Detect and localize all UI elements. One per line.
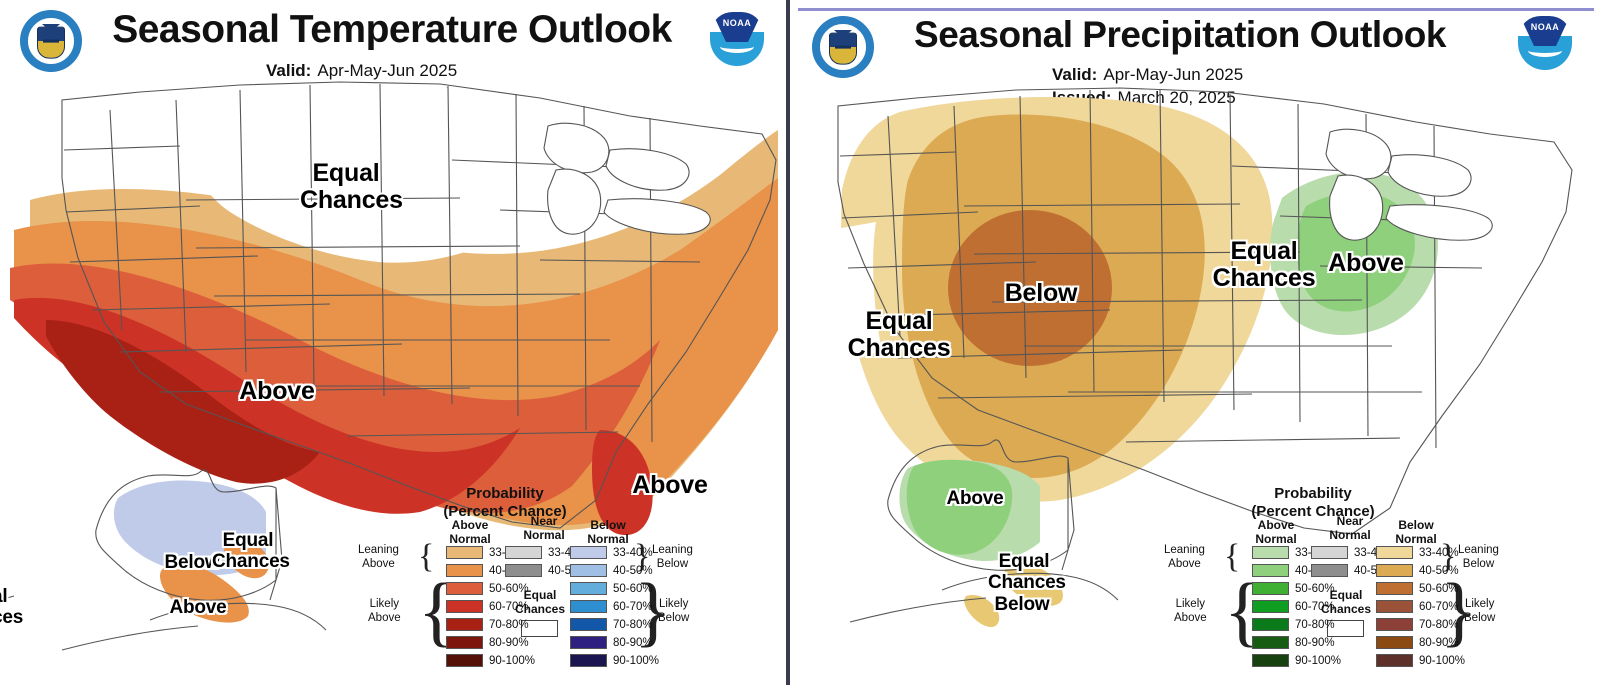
below-normal-swatch	[1376, 600, 1413, 613]
above-normal-swatch-label: 90-100%	[489, 655, 535, 667]
precipitation-outlook-panel: NOAA Seasonal Precipitation Outlook Vali…	[790, 0, 1600, 685]
temperature-legend: Probability(Percent Chance) AboveNormal …	[0, 0, 788, 685]
below-normal-swatch-label: 60-70%	[1419, 601, 1459, 613]
above-normal-swatch-label: 50-60%	[1295, 583, 1335, 595]
near-normal-swatch	[1311, 564, 1348, 577]
below-normal-swatch	[1376, 546, 1413, 559]
below-normal-swatch	[570, 582, 607, 595]
above-normal-swatch	[1252, 564, 1289, 577]
below-normal-swatch-label: 50-60%	[1419, 583, 1459, 595]
below-normal-swatch-label: 50-60%	[613, 583, 653, 595]
near-normal-swatch	[1311, 546, 1348, 559]
above-normal-swatch	[1252, 636, 1289, 649]
above-normal-swatch	[1252, 582, 1289, 595]
below-normal-swatch	[570, 564, 607, 577]
precipitation-legend: Probability(Percent Chance) AboveNormal …	[790, 0, 1600, 685]
above-normal-swatch	[1252, 600, 1289, 613]
near-normal-swatch	[505, 564, 542, 577]
legend-col-near-normal: NearNormal	[1312, 514, 1388, 543]
above-normal-swatch-label: 60-70%	[489, 601, 529, 613]
below-normal-swatch-label: 33-40%	[613, 547, 653, 559]
below-normal-swatch-label: 70-80%	[1419, 619, 1459, 631]
below-normal-swatch-label: 80-90%	[613, 637, 653, 649]
below-normal-swatch-label: 90-100%	[613, 655, 659, 667]
below-normal-swatch	[570, 546, 607, 559]
below-normal-swatch	[1376, 636, 1413, 649]
near-normal-swatch	[505, 546, 542, 559]
above-normal-swatch	[446, 600, 483, 613]
above-normal-swatch-label: 70-80%	[489, 619, 529, 631]
above-normal-swatch	[446, 618, 483, 631]
below-normal-swatch	[570, 636, 607, 649]
above-normal-swatch-label: 70-80%	[1295, 619, 1335, 631]
below-normal-swatch	[1376, 582, 1413, 595]
legend-leaning-above-label: LeaningAbove	[358, 544, 399, 572]
above-normal-swatch	[1252, 546, 1289, 559]
above-normal-swatch	[446, 654, 483, 667]
below-normal-swatch-label: 90-100%	[1419, 655, 1465, 667]
above-normal-swatch	[446, 582, 483, 595]
legend-col-above-normal: AboveNormal	[432, 518, 508, 547]
above-normal-swatch-label: 60-70%	[1295, 601, 1335, 613]
below-normal-swatch	[1376, 654, 1413, 667]
below-normal-swatch-label: 60-70%	[613, 601, 653, 613]
above-normal-swatch-label: 80-90%	[489, 637, 529, 649]
above-normal-swatch	[446, 636, 483, 649]
below-normal-swatch	[1376, 564, 1413, 577]
below-normal-swatch-label: 80-90%	[1419, 637, 1459, 649]
below-normal-swatch-label: 40-50%	[613, 565, 653, 577]
below-normal-swatch-label: 33-40%	[1419, 547, 1459, 559]
above-normal-swatch-label: 90-100%	[1295, 655, 1341, 667]
outlook-dual-panel: NOAA Seasonal Temperature Outlook Valid:…	[0, 0, 1600, 685]
above-normal-swatch-label: 80-90%	[1295, 637, 1335, 649]
above-normal-swatch	[446, 564, 483, 577]
above-normal-swatch-label: 50-60%	[489, 583, 529, 595]
below-normal-swatch-label: 70-80%	[613, 619, 653, 631]
temperature-outlook-panel: NOAA Seasonal Temperature Outlook Valid:…	[0, 0, 788, 685]
below-normal-swatch	[1376, 618, 1413, 631]
below-normal-swatch-label: 40-50%	[1419, 565, 1459, 577]
below-normal-swatch	[570, 600, 607, 613]
legend-col-above-normal: AboveNormal	[1238, 518, 1314, 547]
above-normal-swatch	[446, 546, 483, 559]
legend-leaning-above-label: LeaningAbove	[1164, 544, 1205, 572]
above-normal-swatch	[1252, 618, 1289, 631]
below-normal-swatch	[570, 654, 607, 667]
below-normal-swatch	[570, 618, 607, 631]
legend-likely-above-label: LikelyAbove	[368, 598, 401, 626]
legend-likely-above-label: LikelyAbove	[1174, 598, 1207, 626]
above-normal-swatch	[1252, 654, 1289, 667]
